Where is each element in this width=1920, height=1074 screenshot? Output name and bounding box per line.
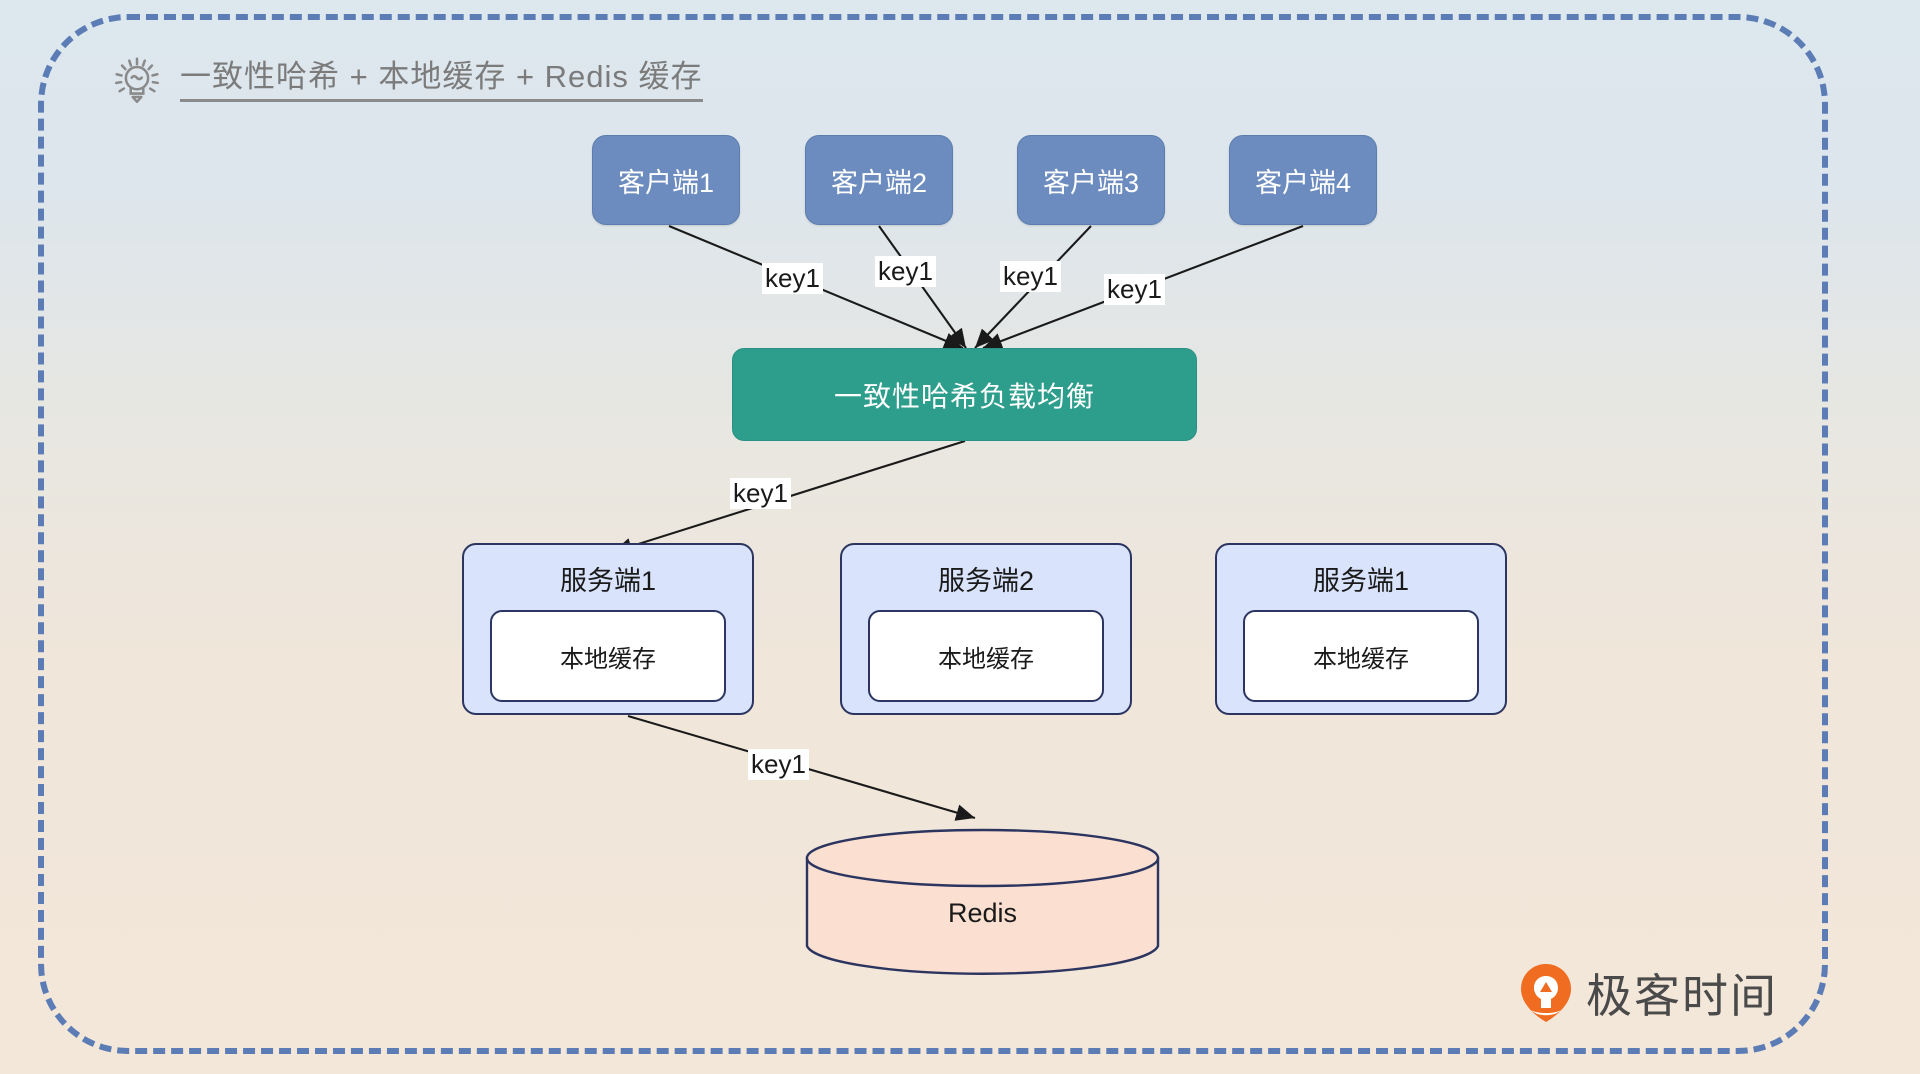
redis-datastore-node[interactable]: Redis xyxy=(805,828,1160,976)
server-label: 服务端1 xyxy=(1313,559,1409,598)
client-label: 客户端4 xyxy=(1255,161,1351,200)
redis-label: Redis xyxy=(805,828,1160,976)
title-label: 一致性哈希 + 本地缓存 + Redis 缓存 xyxy=(180,60,703,101)
client-node-2[interactable]: 客户端2 xyxy=(805,135,953,225)
local-cache-box: 本地缓存 xyxy=(490,610,726,702)
edge-label-client1: key1 xyxy=(762,263,823,294)
client-node-4[interactable]: 客户端4 xyxy=(1229,135,1377,225)
server-label: 服务端2 xyxy=(938,559,1034,598)
client-node-3[interactable]: 客户端3 xyxy=(1017,135,1165,225)
edge-label-server1-to-redis: key1 xyxy=(748,749,809,780)
edge-label-client3: key1 xyxy=(1000,261,1061,292)
server-label: 服务端1 xyxy=(560,559,656,598)
client-label: 客户端2 xyxy=(831,161,927,200)
server-node-1[interactable]: 服务端1 本地缓存 xyxy=(462,543,754,715)
load-balancer-label: 一致性哈希负载均衡 xyxy=(834,375,1095,415)
local-cache-box: 本地缓存 xyxy=(868,610,1104,702)
brand-name: 极客时间 xyxy=(1586,973,1778,1019)
client-node-1[interactable]: 客户端1 xyxy=(592,135,740,225)
diagram-canvas: 一致性哈希 + 本地缓存 + Redis 缓存 客户端1 客户端2 客户端3 客 xyxy=(0,0,1920,1074)
lightbulb-icon xyxy=(108,52,166,110)
local-cache-box: 本地缓存 xyxy=(1243,610,1479,702)
server-node-2[interactable]: 服务端2 本地缓存 xyxy=(840,543,1132,715)
client-label: 客户端3 xyxy=(1043,161,1139,200)
brand-logo: 极客时间 xyxy=(1518,962,1778,1029)
load-balancer-node[interactable]: 一致性哈希负载均衡 xyxy=(732,348,1197,441)
edge-label-client2: key1 xyxy=(875,256,936,287)
edge-label-lb-to-server1: key1 xyxy=(730,478,791,509)
server-node-3[interactable]: 服务端1 本地缓存 xyxy=(1215,543,1507,715)
geektime-logo-icon xyxy=(1518,962,1574,1029)
diagram-title: 一致性哈希 + 本地缓存 + Redis 缓存 xyxy=(108,52,703,110)
client-label: 客户端1 xyxy=(618,161,714,200)
edge-label-client4: key1 xyxy=(1104,274,1165,305)
